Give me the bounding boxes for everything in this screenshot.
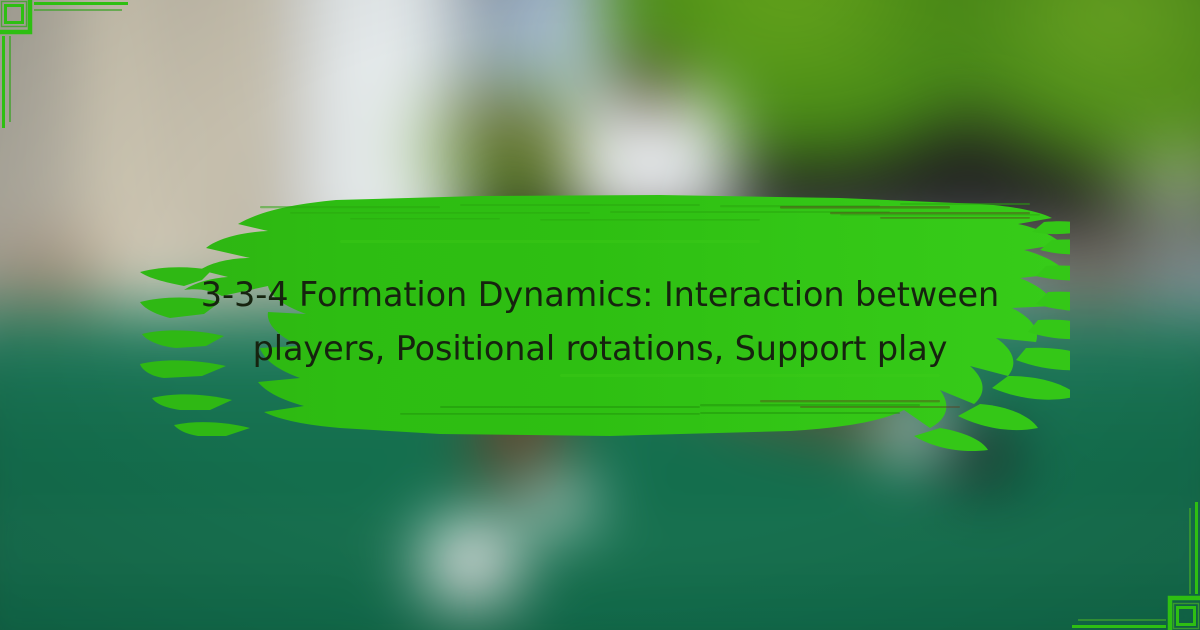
- player-arm: [454, 104, 588, 161]
- corner-ornament-bottom-right: [1070, 500, 1200, 630]
- player-head: [620, 56, 675, 116]
- corner-square-icon: [6, 6, 23, 23]
- player-boot: [521, 480, 594, 525]
- corner-square-icon: [1178, 608, 1195, 625]
- page-title: 3-3-4 Formation Dynamics: Interaction be…: [180, 268, 1020, 376]
- football: [422, 518, 521, 608]
- corner-ornament-top-left: [0, 0, 130, 130]
- title-card: 3-3-4 Formation Dynamics: Interaction be…: [0, 0, 1200, 630]
